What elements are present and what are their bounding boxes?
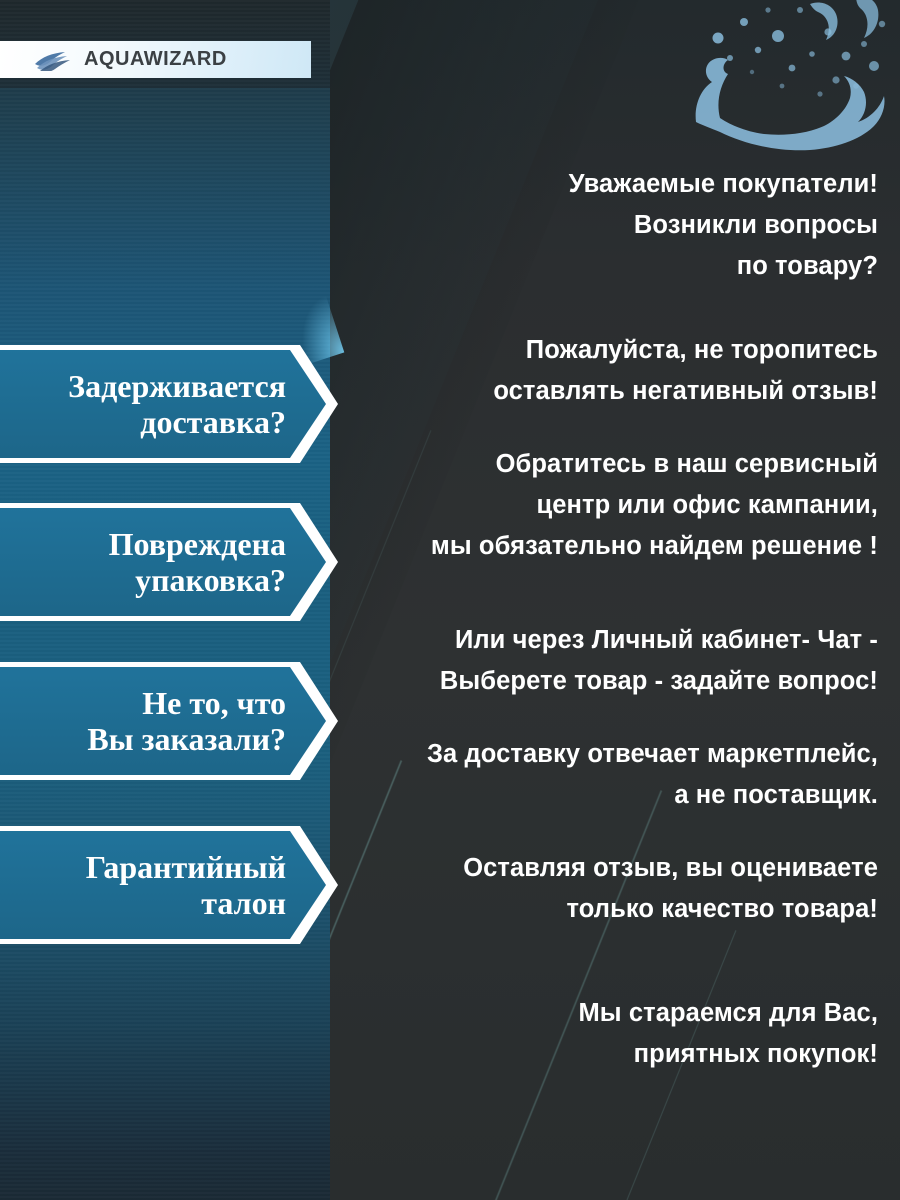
banner-wrong-item[interactable]: Не то, что Вы заказали?: [0, 662, 338, 780]
banner-damaged-packaging[interactable]: Повреждена упаковка?: [0, 503, 338, 621]
banner-label: Не то, что Вы заказали?: [0, 662, 294, 780]
banner-warranty-card[interactable]: Гарантийный талон: [0, 826, 338, 944]
brand-logo-text: AQUAWIZARD: [84, 48, 227, 71]
copy-delivery-note: За доставку отвечает маркетплейс, а не п…: [318, 734, 878, 816]
copy-review-note: Оставляя отзыв, вы оцениваете только кач…: [318, 848, 878, 930]
brand-logo-plate: AQUAWIZARD: [0, 41, 311, 78]
water-wave-icon: [34, 49, 74, 71]
promo-banner-stage: AQUAWIZARD Задерживается доставка? Повре…: [0, 0, 900, 1200]
banner-label: Повреждена упаковка?: [0, 503, 294, 621]
copy-closing: Мы стараемся для Вас, приятных покупок!: [318, 993, 878, 1075]
banner-label: Задерживается доставка?: [0, 345, 294, 463]
copy-contact-service: Обратитесь в наш сервисный центр или офи…: [318, 444, 878, 566]
banner-delivery-delayed[interactable]: Задерживается доставка?: [0, 345, 338, 463]
copy-please-wait: Пожалуйста, не торопитесь оставлять нега…: [318, 330, 878, 412]
copy-chat-route: Или через Личный кабинет- Чат - Выберете…: [318, 620, 878, 702]
copy-greeting: Уважаемые покупатели! Возникли вопросы п…: [318, 164, 878, 286]
banner-label: Гарантийный талон: [0, 826, 294, 944]
water-splash-icon: [660, 0, 900, 154]
